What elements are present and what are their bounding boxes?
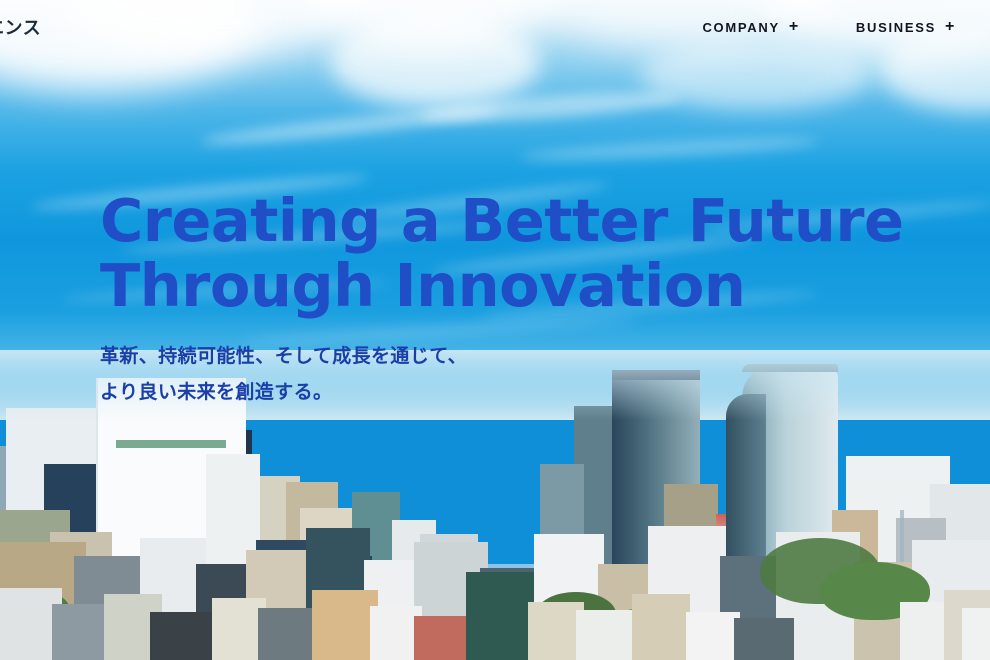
hero-copy: Creating a Better Future Through Innovat… (100, 188, 904, 410)
hero-headline-line2: Through Innovation (100, 253, 904, 318)
plus-icon: + (945, 19, 956, 35)
nav-item-company[interactable]: COMPANY + (702, 19, 799, 35)
hero-headline-line1: Creating a Better Future (100, 188, 904, 253)
plus-icon: + (789, 19, 800, 35)
site-header: エンス COMPANY + BUSINESS + (0, 0, 990, 52)
hero-subtitle-line2: より良い未来を創造する。 (100, 374, 904, 410)
site-logo[interactable]: エンス (0, 14, 41, 40)
nav-item-company-label: COMPANY (702, 20, 779, 35)
main-navigation: COMPANY + BUSINESS + (702, 19, 956, 35)
hero-stage: エンス COMPANY + BUSINESS + Creating a Bett… (0, 0, 990, 660)
hero-subtitle-line1: 革新、持続可能性、そして成長を通じて、 (100, 338, 904, 374)
nav-item-business-label: BUSINESS (856, 20, 936, 35)
nav-item-business[interactable]: BUSINESS + (856, 19, 956, 35)
